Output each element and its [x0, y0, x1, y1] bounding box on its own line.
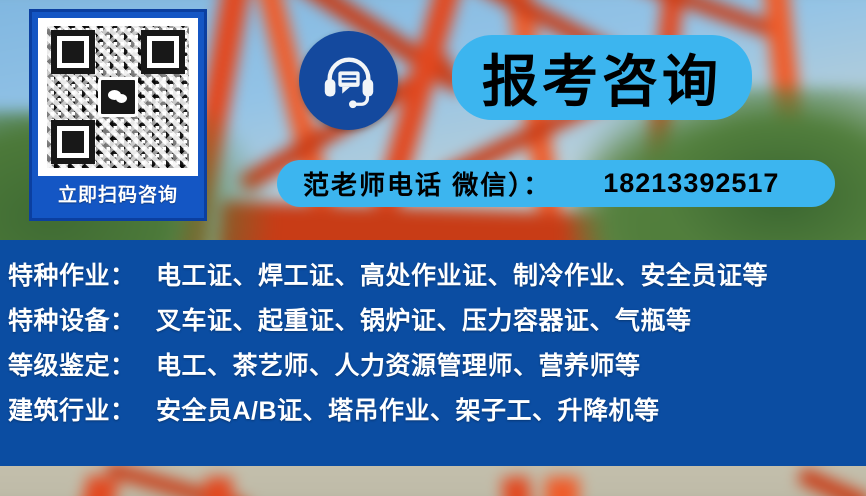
- qr-card[interactable]: 立即扫码咨询: [29, 9, 207, 221]
- info-row: 特种作业： 电工证、焊工证、高处作业证、制冷作业、安全员证等: [8, 256, 866, 301]
- certification-info-panel: 特种作业： 电工证、焊工证、高处作业证、制冷作业、安全员证等 特种设备： 叉车证…: [0, 240, 866, 466]
- qr-finder-icon: [51, 30, 95, 74]
- headset-support-icon: [299, 31, 398, 130]
- info-row-value: 叉车证、起重证、锅炉证、压力容器证、气瓶等: [156, 301, 692, 337]
- info-row-value: 电工、茶艺师、人力资源管理师、营养师等: [156, 346, 641, 382]
- info-row: 特种设备： 叉车证、起重证、锅炉证、压力容器证、气瓶等: [8, 301, 866, 346]
- info-row-value: 电工证、焊工证、高处作业证、制冷作业、安全员证等: [156, 256, 768, 292]
- qr-finder-icon: [51, 120, 95, 164]
- qr-caption: 立即扫码咨询: [38, 176, 198, 216]
- promo-poster: 立即扫码咨询 报考咨询 范老师电话 微信）： 18213392517 特种作业：…: [0, 0, 866, 496]
- info-row-category: 特种作业：: [8, 256, 156, 292]
- wechat-bubble-small: [116, 94, 127, 103]
- title-text: 报考咨询: [482, 37, 722, 118]
- info-row-category: 建筑行业：: [8, 391, 156, 427]
- qr-code-frame: [38, 18, 198, 176]
- phone-label: 范老师电话 微信）：: [303, 165, 551, 202]
- phone-number[interactable]: 18213392517: [603, 168, 779, 199]
- crane-leg: [502, 476, 533, 496]
- wechat-bubbles: [108, 90, 128, 104]
- info-row-category: 等级鉴定：: [8, 346, 156, 382]
- phone-pill[interactable]: 范老师电话 微信）： 18213392517: [277, 160, 835, 207]
- wechat-icon: [98, 77, 138, 117]
- qr-code-icon[interactable]: [47, 26, 189, 168]
- info-row-value: 安全员A/B证、塔吊作业、架子工、升降机等: [156, 391, 660, 427]
- info-row: 建筑行业： 安全员A/B证、塔吊作业、架子工、升降机等: [8, 391, 866, 436]
- info-row-category: 特种设备：: [8, 301, 156, 337]
- qr-finder-icon: [141, 30, 185, 74]
- crane-leg: [205, 477, 232, 496]
- title-pill: 报考咨询: [452, 35, 752, 120]
- crane-leg: [545, 477, 579, 496]
- info-row: 等级鉴定： 电工、茶艺师、人力资源管理师、营养师等: [8, 346, 866, 391]
